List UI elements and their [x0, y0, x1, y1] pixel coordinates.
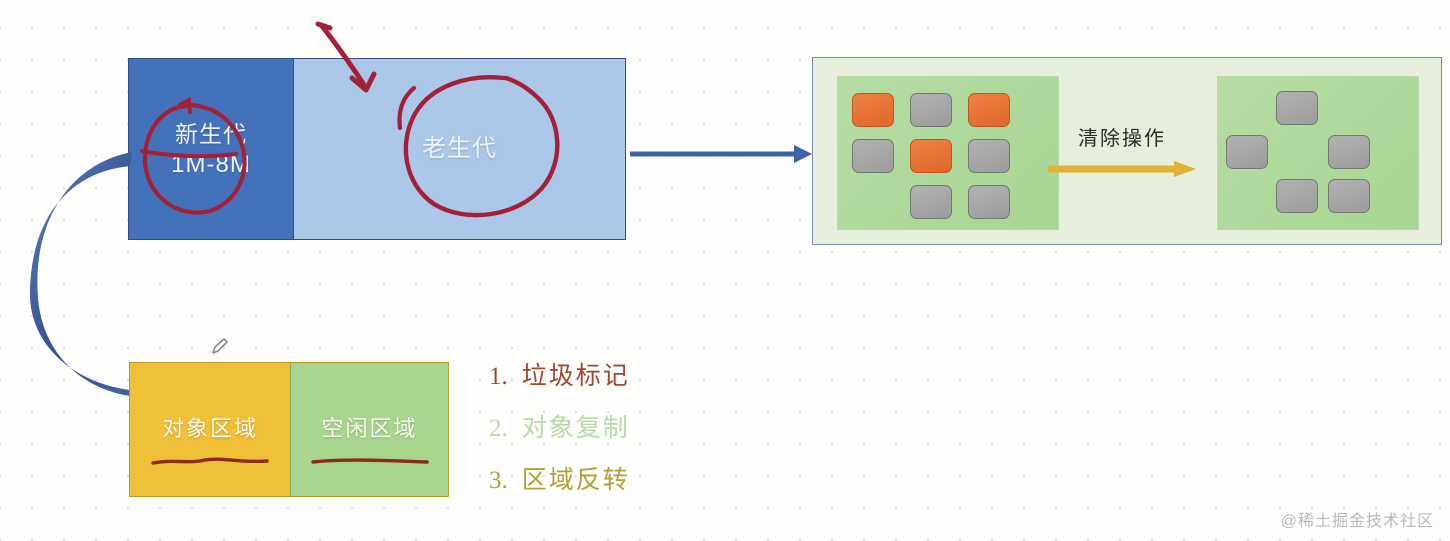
- heap-before-sweep: [837, 76, 1059, 230]
- step-item: 3. 区域反转: [489, 460, 719, 512]
- object-region-label: 对象区域: [162, 411, 258, 443]
- heap-cell-live: [1276, 91, 1318, 125]
- heap-cell-live: [910, 93, 952, 127]
- heap-after-sweep: [1217, 76, 1419, 230]
- step-item: 1. 垃圾标记: [489, 356, 719, 408]
- flow-arrow-to-sweep-panel: [628, 140, 814, 168]
- sweep-operation-arrow: [1046, 160, 1198, 178]
- step-label: 区域反转: [522, 460, 630, 496]
- heap-cell-garbage: [910, 139, 952, 173]
- pencil-icon: [208, 336, 232, 358]
- red-underline-annotation-object: [151, 456, 269, 466]
- sweep-operation-panel: [812, 57, 1442, 245]
- free-region-label: 空闲区域: [321, 411, 417, 443]
- red-circle-annotation-old: [390, 72, 565, 224]
- heap-cell-live: [1328, 179, 1370, 213]
- step-number: 3.: [489, 467, 508, 495]
- step-number: 1.: [489, 363, 508, 391]
- heap-cell-live: [910, 185, 952, 219]
- heap-cell-garbage: [968, 93, 1010, 127]
- step-item: 2. 对象复制: [489, 408, 719, 460]
- watermark: @稀土掘金技术社区: [1281, 507, 1434, 531]
- object-region-block: 对象区域: [130, 363, 290, 496]
- sweep-operation-label: 清除操作: [1078, 122, 1166, 151]
- steps-list: 1. 垃圾标记 2. 对象复制 3. 区域反转: [489, 356, 719, 512]
- heap-cell-live: [968, 185, 1010, 219]
- red-pointer-arrow-annotation: [300, 14, 410, 104]
- step-label: 垃圾标记: [522, 356, 630, 392]
- step-number: 2.: [489, 415, 508, 443]
- heap-cell-garbage: [852, 93, 894, 127]
- diagram-canvas: 新生代 1M-8M 老生代: [0, 0, 1450, 541]
- red-underline-annotation-free: [311, 456, 429, 466]
- heap-cell-live: [968, 139, 1010, 173]
- heap-cell-live: [852, 139, 894, 173]
- step-label: 对象复制: [522, 408, 630, 444]
- free-region-block: 空闲区域: [290, 363, 448, 496]
- heap-cell-live: [1276, 179, 1318, 213]
- heap-cell-live: [1226, 135, 1268, 169]
- heap-cell-live: [1328, 135, 1370, 169]
- region-box: 对象区域 空闲区域: [129, 362, 449, 497]
